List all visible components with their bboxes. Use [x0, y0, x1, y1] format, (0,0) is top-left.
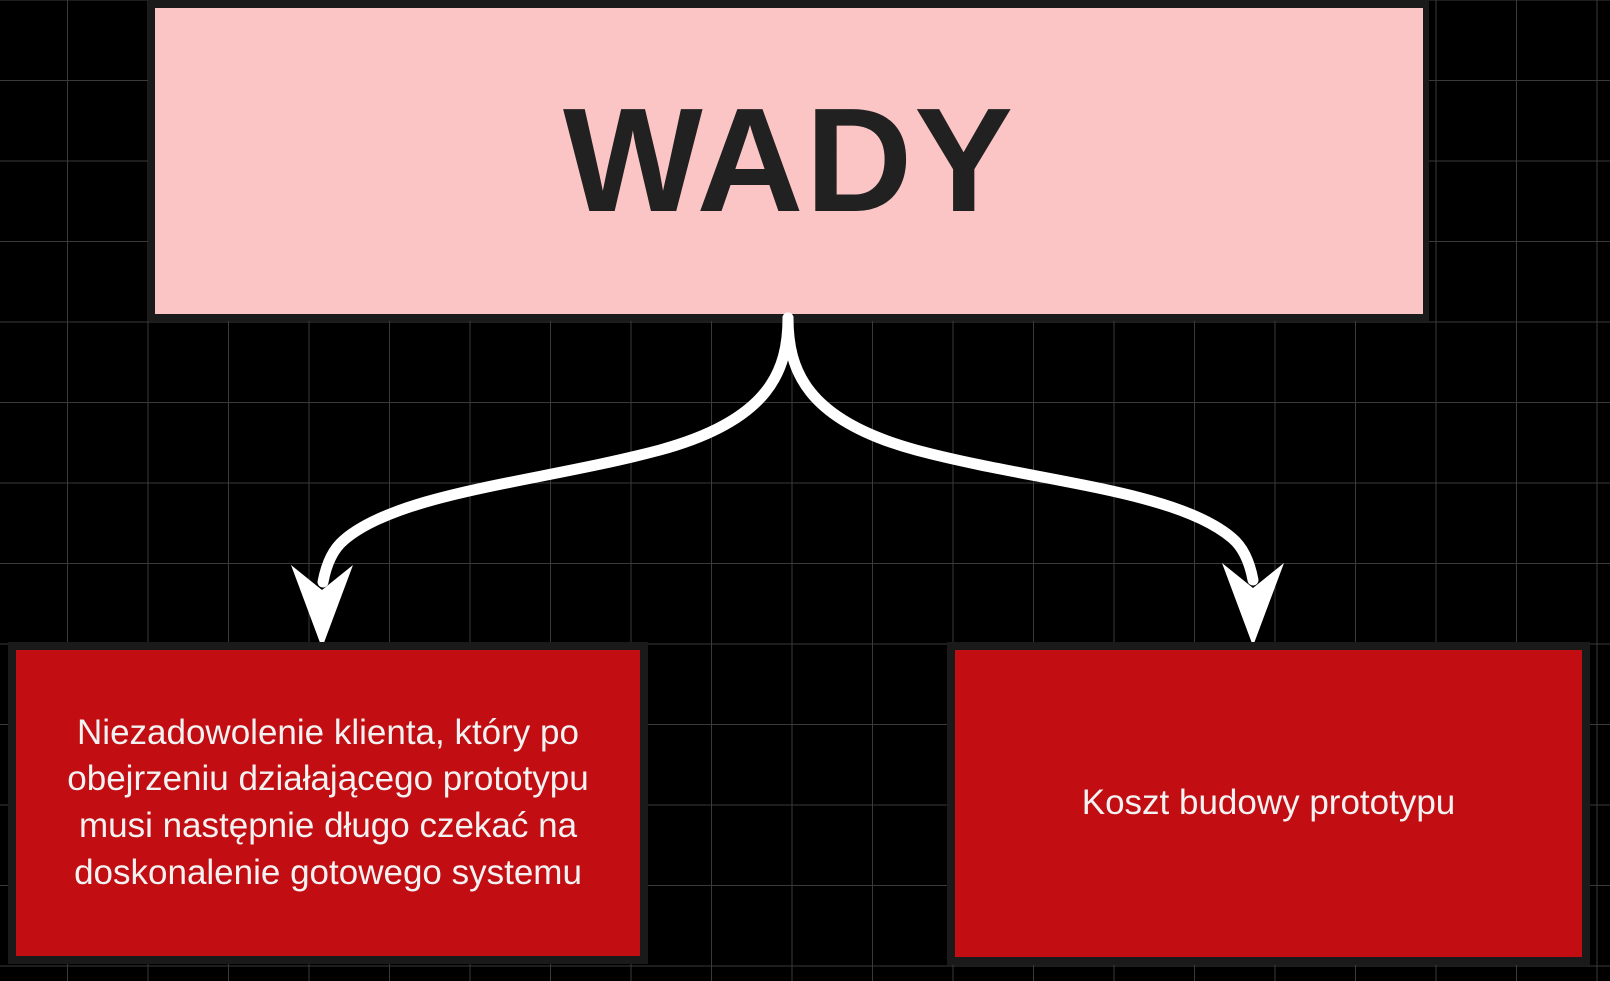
connector-left-arrowhead — [291, 565, 353, 648]
child-node-right[interactable]: Koszt budowy prototypu — [955, 650, 1582, 957]
connector-right-arrowhead — [1222, 563, 1284, 646]
child-node-left[interactable]: Niezadowolenie klienta, który po obejrze… — [16, 650, 640, 956]
diagram-canvas: WADY Niezadowolenie klienta, który po ob… — [0, 0, 1610, 981]
title-node[interactable]: WADY — [155, 8, 1423, 314]
child-node-left-label: Niezadowolenie klienta, który po obejrze… — [16, 710, 640, 896]
connector-right-curve — [788, 318, 1253, 580]
connector-left-curve — [323, 318, 788, 582]
title-node-label: WADY — [563, 87, 1015, 235]
child-node-right-label: Koszt budowy prototypu — [1072, 780, 1466, 827]
